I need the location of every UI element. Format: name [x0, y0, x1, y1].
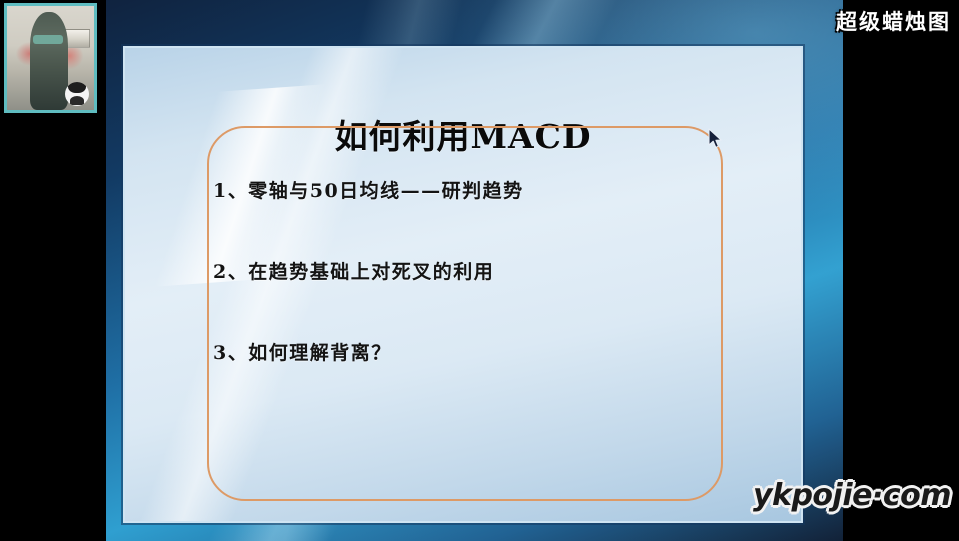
- bullet-item-1: 1、零轴与50日均线——研判趋势: [213, 176, 733, 203]
- channel-title-badge: 超级蜡烛图: [836, 6, 951, 36]
- bullet-item-3: 3、如何理解背离？: [213, 338, 733, 365]
- letterbox-right: [843, 0, 959, 541]
- webcam-face-highlight: [33, 35, 63, 44]
- presentation-slide[interactable]: 如何利用MACD 1、零轴与50日均线——研判趋势 2、在趋势基础上对死叉的利用…: [123, 46, 803, 523]
- site-watermark: ykpojie·com: [753, 478, 951, 513]
- screen-capture: 如何利用MACD 1、零轴与50日均线——研判趋势 2、在趋势基础上对死叉的利用…: [0, 0, 959, 541]
- bullet-item-2: 2、在趋势基础上对死叉的利用: [213, 257, 733, 284]
- slide-bullet-list: 1、零轴与50日均线——研判趋势 2、在趋势基础上对死叉的利用 3、如何理解背离…: [213, 176, 733, 365]
- webcam-overlay[interactable]: [4, 3, 97, 113]
- webcam-person-silhouette: [30, 12, 68, 110]
- user-avatar[interactable]: [65, 82, 89, 106]
